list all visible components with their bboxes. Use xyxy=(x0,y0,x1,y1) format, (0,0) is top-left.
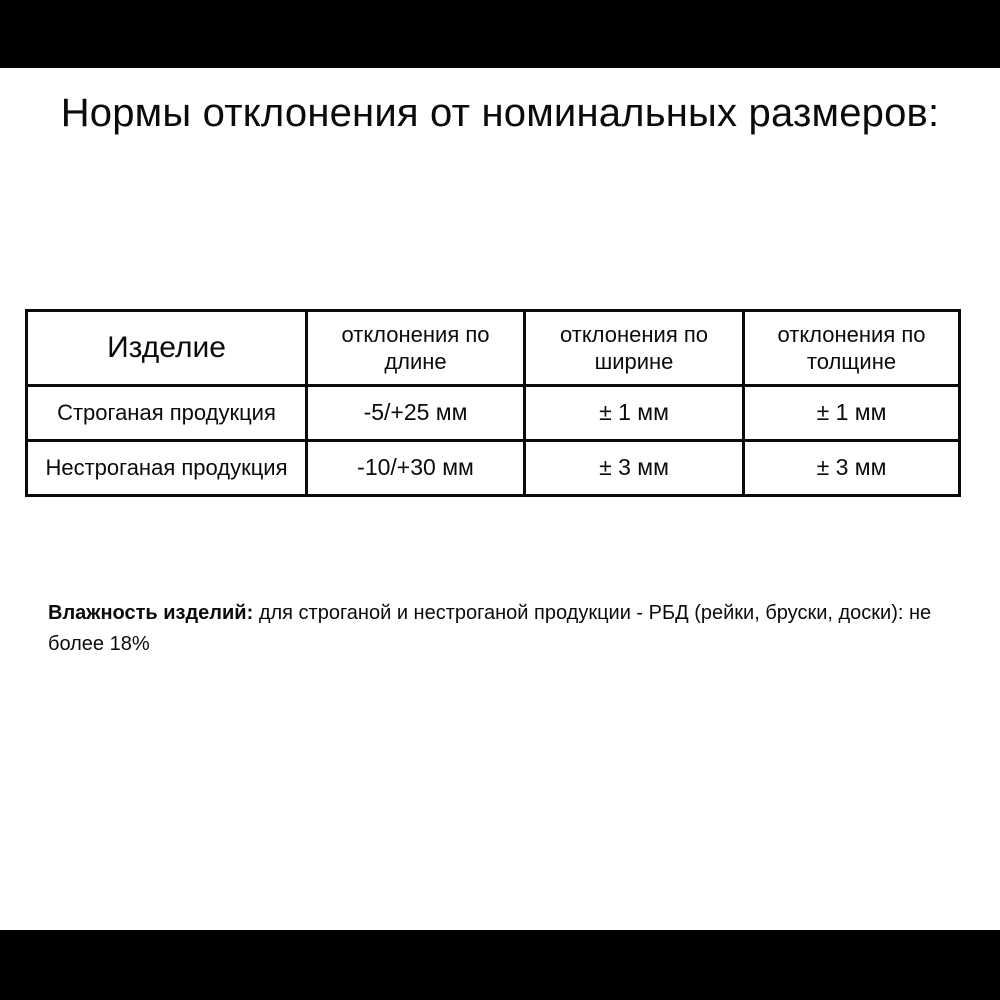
page-title: Нормы отклонения от номинальных размеров… xyxy=(60,88,940,138)
column-header-length-deviation: отклонения по длине xyxy=(307,311,525,386)
letterbox-bar-top xyxy=(0,0,1000,68)
cell-thickness-deviation: ± 3 мм xyxy=(744,441,960,496)
cell-length-deviation: -5/+25 мм xyxy=(307,386,525,441)
cell-length-deviation: -10/+30 мм xyxy=(307,441,525,496)
column-header-width-deviation: отклонения по ширине xyxy=(525,311,744,386)
cell-product-name: Нестроганая продукция xyxy=(27,441,307,496)
slide-canvas xyxy=(0,68,1000,930)
moisture-note: Влажность изделий: для строганой и нестр… xyxy=(48,598,938,660)
table-header-row: Изделие отклонения по длине отклонения п… xyxy=(27,311,960,386)
column-header-thickness-deviation: отклонения по толщине xyxy=(744,311,960,386)
cell-thickness-deviation: ± 1 мм xyxy=(744,386,960,441)
cell-product-name: Строганая продукция xyxy=(27,386,307,441)
cell-width-deviation: ± 3 мм xyxy=(525,441,744,496)
table-row: Нестроганая продукция -10/+30 мм ± 3 мм … xyxy=(27,441,960,496)
slide-frame: Нормы отклонения от номинальных размеров… xyxy=(0,0,1000,1000)
letterbox-bar-bottom xyxy=(0,930,1000,1000)
moisture-note-label: Влажность изделий: xyxy=(48,602,253,624)
column-header-product: Изделие xyxy=(27,311,307,386)
table-row: Строганая продукция -5/+25 мм ± 1 мм ± 1… xyxy=(27,386,960,441)
cell-width-deviation: ± 1 мм xyxy=(525,386,744,441)
deviation-norms-table: Изделие отклонения по длине отклонения п… xyxy=(25,309,961,497)
